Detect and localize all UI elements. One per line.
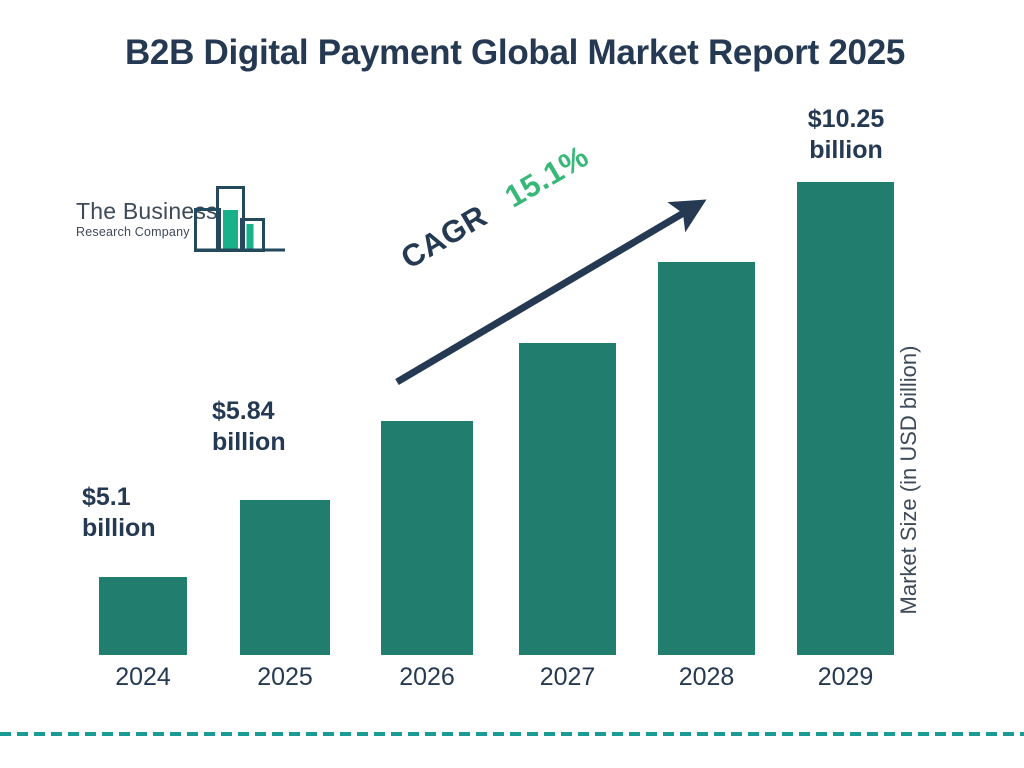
bar-value-label-2025: $5.84 billion <box>212 396 358 457</box>
x-tick-2026: 2026 <box>381 663 473 692</box>
bar-2024 <box>99 577 187 655</box>
chart-plot-area: $5.1 billion $5.84 billion $10.25 billio… <box>0 0 1024 768</box>
x-tick-2027: 2027 <box>519 663 616 692</box>
bar-2025 <box>240 500 330 655</box>
bar-2026 <box>381 421 473 655</box>
bar-value-label-2024: $5.1 billion <box>82 482 192 543</box>
x-tick-2029: 2029 <box>797 663 894 692</box>
chart-page: B2B Digital Payment Global Market Report… <box>0 0 1024 768</box>
y-axis-title: Market Size (in USD billion) <box>896 0 932 300</box>
bar-2029 <box>797 182 894 655</box>
x-tick-2025: 2025 <box>240 663 330 692</box>
x-tick-2028: 2028 <box>658 663 755 692</box>
y-axis-title-text: Market Size (in USD billion) <box>896 300 922 660</box>
growth-arrow <box>380 185 720 400</box>
x-tick-2024: 2024 <box>99 663 187 692</box>
footer-dashed-divider <box>0 732 1024 736</box>
